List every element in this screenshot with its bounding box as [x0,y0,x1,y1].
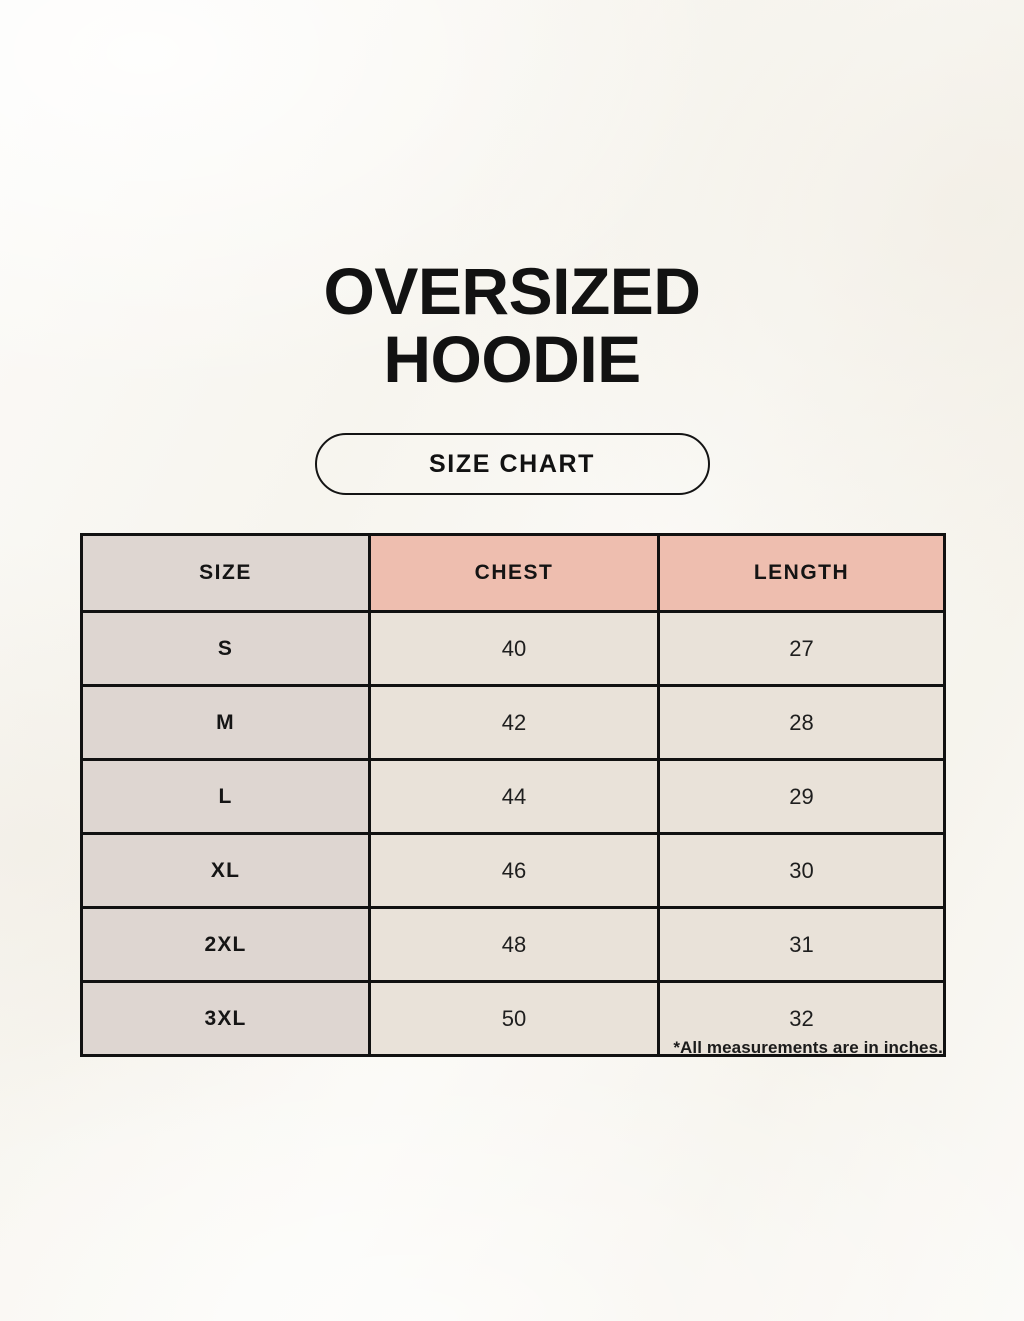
cell-size: 2XL [82,908,370,982]
column-header-length: LENGTH [659,535,945,612]
size-table: SIZE CHEST LENGTH S 40 27 M 42 28 L [80,533,946,1057]
table-header-row: SIZE CHEST LENGTH [82,535,945,612]
size-table-container: SIZE CHEST LENGTH S 40 27 M 42 28 L [80,533,943,1057]
table-row: L 44 29 [82,760,945,834]
cell-length: 28 [659,686,945,760]
table-row: 2XL 48 31 [82,908,945,982]
cell-size: S [82,612,370,686]
size-chart-badge-container: SIZE CHART [0,433,1024,495]
page-title-line-2: HOODIE [0,326,1024,394]
cell-chest: 48 [370,908,659,982]
size-chart-badge: SIZE CHART [315,433,710,495]
cell-length: 29 [659,760,945,834]
table-row: M 42 28 [82,686,945,760]
cell-size: L [82,760,370,834]
column-header-size: SIZE [82,535,370,612]
cell-length: 31 [659,908,945,982]
cell-size: XL [82,834,370,908]
page-title: OVERSIZED HOODIE [0,258,1024,394]
table-row: S 40 27 [82,612,945,686]
size-table-header: SIZE CHEST LENGTH [82,535,945,612]
size-chart-badge-label: SIZE CHART [429,450,595,479]
cell-chest: 44 [370,760,659,834]
cell-chest: 46 [370,834,659,908]
cell-size: M [82,686,370,760]
table-row: XL 46 30 [82,834,945,908]
column-header-chest: CHEST [370,535,659,612]
cell-chest: 42 [370,686,659,760]
cell-chest: 40 [370,612,659,686]
cell-length: 27 [659,612,945,686]
size-table-body: S 40 27 M 42 28 L 44 29 XL 46 30 [82,612,945,1056]
measurement-units-note: *All measurements are in inches. [80,1038,943,1058]
page-title-line-1: OVERSIZED [0,258,1024,326]
cell-length: 30 [659,834,945,908]
size-chart-page: OVERSIZED HOODIE SIZE CHART SIZE CHEST L… [0,0,1024,1321]
